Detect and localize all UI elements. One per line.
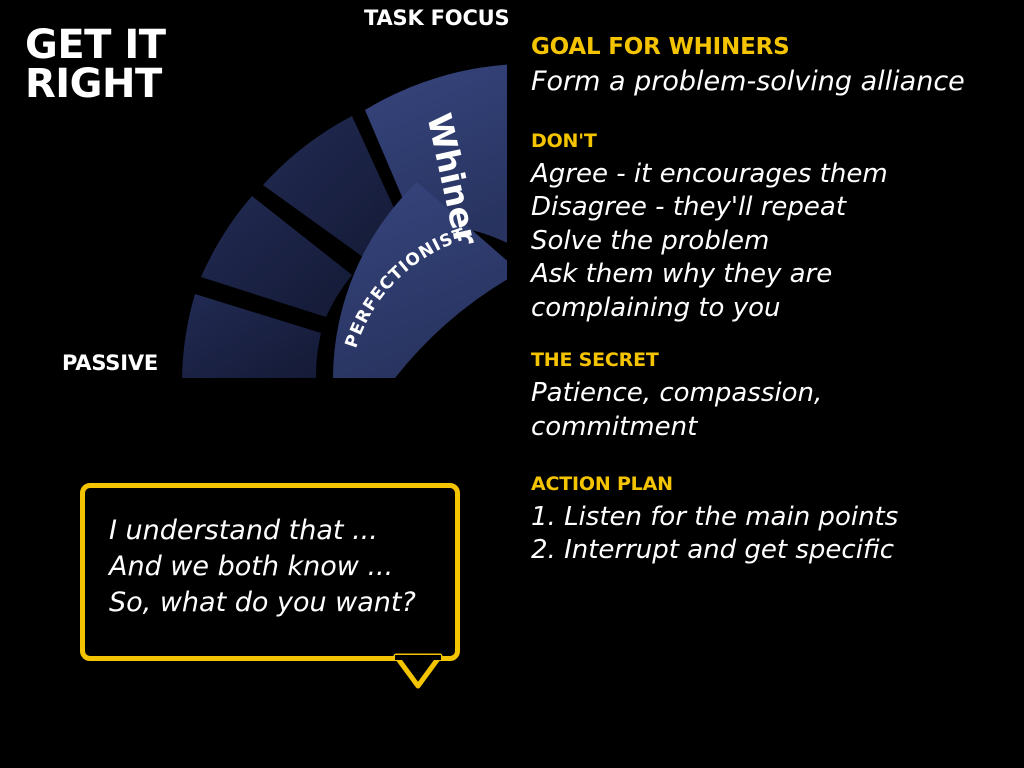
speech-bubble-text: I understand that ... And we both know .… bbox=[109, 513, 416, 621]
section-dont-line-5: complaining to you bbox=[531, 292, 1011, 326]
section-secret-heading: THE SECRET bbox=[531, 349, 1011, 371]
section-goal-line-1: Form a problem-solving alliance bbox=[531, 65, 1011, 100]
section-dont-body: Agree - it encourages them Disagree - th… bbox=[531, 158, 1011, 326]
behavior-wheel-diagram: Whiner PERFECTIONIST bbox=[0, 0, 540, 400]
section-secret: THE SECRET Patience, compassion, commitm… bbox=[531, 349, 1011, 444]
section-action-plan-heading: ACTION PLAN bbox=[531, 473, 1011, 495]
action-plan-item-1: 1. Listen for the main points bbox=[531, 501, 1011, 535]
section-dont-heading: DON'T bbox=[531, 130, 1011, 152]
speech-bubble-line-2: And we both know ... bbox=[109, 549, 416, 585]
section-dont-line-1: Agree - it encourages them bbox=[531, 158, 1011, 192]
content-panel: GOAL FOR WHINERS Form a problem-solving … bbox=[531, 34, 1011, 594]
section-secret-line-1: Patience, compassion, bbox=[531, 377, 1011, 411]
wheel-svg: Whiner PERFECTIONIST bbox=[0, 0, 540, 400]
section-dont-line-4: Ask them why they are bbox=[531, 258, 1011, 292]
section-goal-heading: GOAL FOR WHINERS bbox=[531, 34, 1011, 60]
section-action-plan: ACTION PLAN 1. Listen for the main point… bbox=[531, 473, 1011, 568]
section-goal-body: Form a problem-solving alliance bbox=[531, 65, 1011, 100]
speech-bubble-line-3: So, what do you want? bbox=[109, 585, 416, 621]
section-secret-body: Patience, compassion, commitment bbox=[531, 377, 1011, 444]
section-dont-line-3: Solve the problem bbox=[531, 225, 1011, 259]
speech-bubble-line-1: I understand that ... bbox=[109, 513, 416, 549]
speech-bubble: I understand that ... And we both know .… bbox=[80, 483, 460, 661]
section-action-plan-body: 1. Listen for the main points 2. Interru… bbox=[531, 501, 1011, 568]
section-goal: GOAL FOR WHINERS Form a problem-solving … bbox=[531, 34, 1011, 100]
section-dont: DON'T Agree - it encourages them Disagre… bbox=[531, 130, 1011, 326]
speech-bubble-tail bbox=[395, 655, 441, 687]
section-secret-line-2: commitment bbox=[531, 411, 1011, 445]
section-dont-line-2: Disagree - they'll repeat bbox=[531, 191, 1011, 225]
action-plan-item-2: 2. Interrupt and get specific bbox=[531, 534, 1011, 568]
